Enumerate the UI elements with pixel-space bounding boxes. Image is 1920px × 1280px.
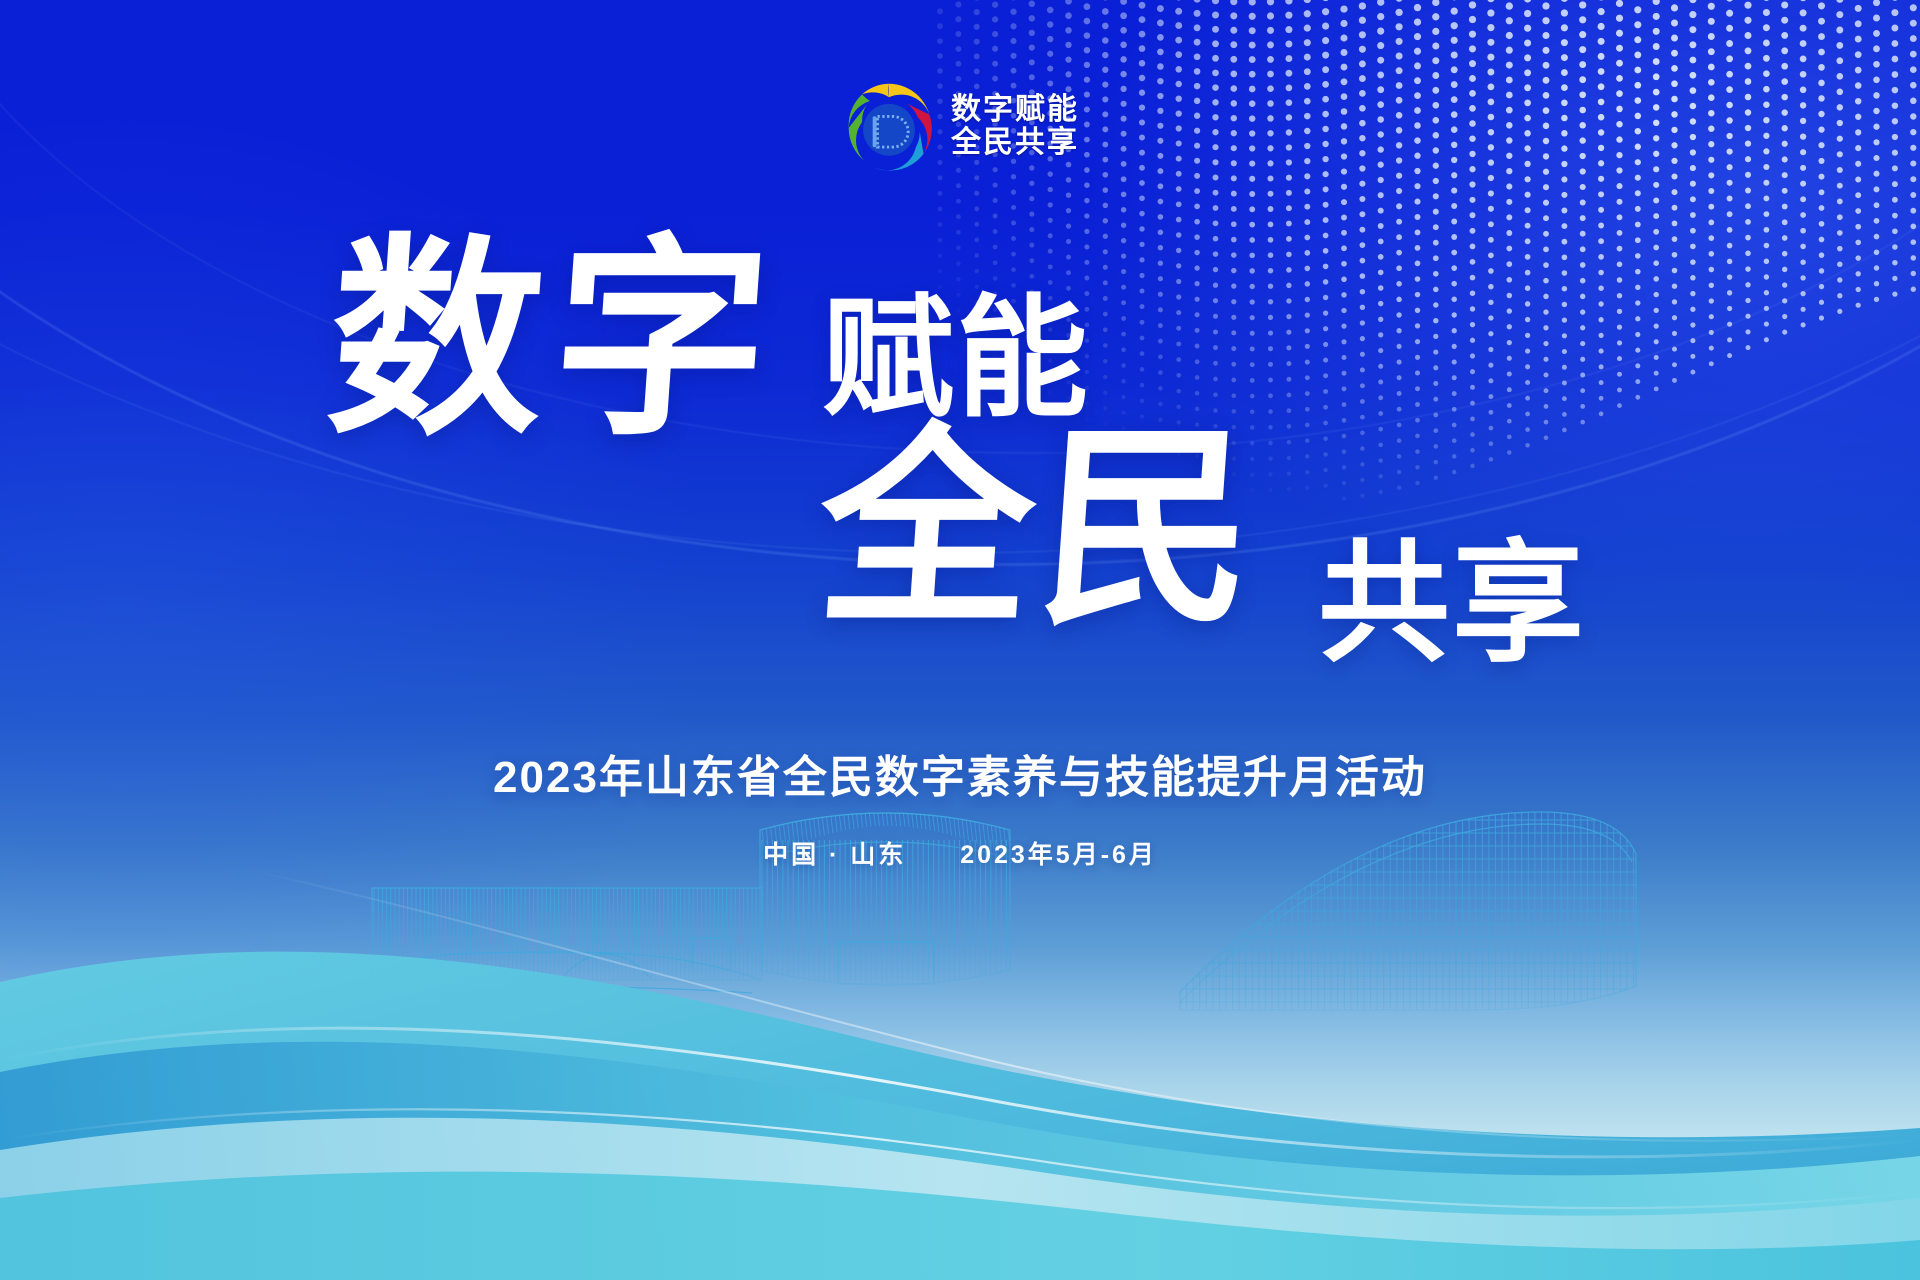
subtitle-block: 2023年山东省全民数字素养与技能提升月活动 中国 · 山东 2023年5月-6… <box>0 752 1920 871</box>
swirl-logo-icon <box>841 78 937 174</box>
event-dateline: 中国 · 山东 2023年5月-6月 <box>0 835 1920 871</box>
event-location: 中国 · 山东 <box>763 841 906 869</box>
event-subtitle: 2023年山东省全民数字素养与技能提升月活动 <box>0 752 1920 805</box>
logo-wordmark: 数字赋能 全民共享 <box>951 95 1079 158</box>
event-logo: 数字赋能 全民共享 <box>0 78 1920 174</box>
poster-root: 数字赋能 全民共享 数字 赋能 全民 共享 2023年山东省全民数字素养与技能提… <box>0 0 1920 1280</box>
headline-word-quanmin: 全民 <box>813 422 1268 636</box>
event-date: 2023年5月-6月 <box>960 841 1157 869</box>
headline-word-shuzi: 数字 <box>323 238 785 441</box>
headline-word-gongxiang: 共享 <box>1318 538 1586 670</box>
logo-line-1: 数字赋能 <box>951 95 1079 125</box>
headline-block: 数字 赋能 全民 共享 <box>0 238 1920 648</box>
logo-line-2: 全民共享 <box>951 128 1079 158</box>
